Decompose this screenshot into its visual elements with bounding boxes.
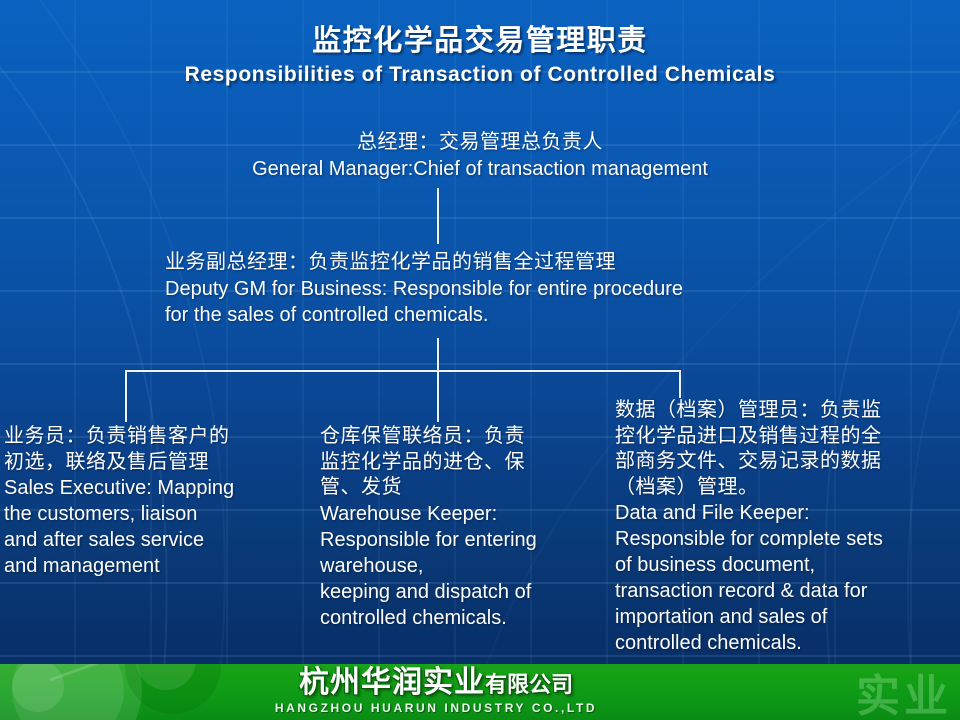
- warehouse-keeper-chinese-line-1: 仓库保管联络员：负责: [320, 424, 602, 450]
- data-file-keeper-english-line-1: Data and File Keeper:: [615, 500, 955, 526]
- sales-executive-english-line-2: the customers, liaison: [4, 501, 304, 527]
- warehouse-keeper-english-line-5: controlled chemicals.: [320, 605, 602, 631]
- deputy-gm-english-line-1: Deputy GM for Business: Responsible for …: [165, 276, 845, 302]
- footer-logo-band: 实业 杭州华润实业有限公司 HANGZHOU HUARUN INDUSTRY C…: [0, 664, 960, 720]
- warehouse-keeper-english-line-1: Warehouse Keeper:: [320, 501, 602, 527]
- connector-gm-to-deputy: [437, 188, 439, 244]
- data-file-keeper-chinese-line-2: 控化学品进口及销售过程的全: [615, 424, 955, 450]
- data-file-keeper-chinese-line-3: 部商务文件、交易记录的数据: [615, 449, 955, 475]
- deputy-gm-english-line-2: for the sales of controlled chemicals.: [165, 302, 845, 328]
- connector-drop-sales: [125, 370, 127, 422]
- sales-executive-english-line-3: and after sales service: [4, 527, 304, 553]
- data-file-keeper-english-line-5: importation and sales of: [615, 604, 955, 630]
- connector-drop-data-keeper: [679, 370, 681, 398]
- data-file-keeper-english-line-3: of business document,: [615, 552, 955, 578]
- general-manager-chinese: 总经理：交易管理总负责人: [0, 130, 960, 156]
- company-logo-chinese-suffix: 有限公司: [485, 672, 573, 697]
- org-node-sales-executive: 业务员：负责销售客户的 初选，联络及售后管理 Sales Executive: …: [4, 424, 304, 579]
- connector-deputy-stem: [437, 338, 439, 372]
- slide-canvas: 监控化学品交易管理职责 Responsibilities of Transact…: [0, 0, 960, 720]
- org-node-deputy-gm: 业务副总经理：负责监控化学品的销售全过程管理 Deputy GM for Bus…: [165, 250, 845, 328]
- sales-executive-english-line-1: Sales Executive: Mapping: [4, 475, 304, 501]
- connector-drop-warehouse: [437, 370, 439, 422]
- data-file-keeper-english-line-2: Responsible for complete sets: [615, 526, 955, 552]
- company-logo: 杭州华润实业有限公司 HANGZHOU HUARUN INDUSTRY CO.,…: [196, 668, 676, 714]
- deputy-gm-chinese: 业务副总经理：负责监控化学品的销售全过程管理: [165, 250, 845, 276]
- sales-executive-chinese-line-1: 业务员：负责销售客户的: [4, 424, 304, 450]
- company-logo-english: HANGZHOU HUARUN INDUSTRY CO.,LTD: [196, 702, 676, 714]
- data-file-keeper-chinese-line-4: （档案）管理。: [615, 475, 955, 501]
- org-node-data-file-keeper: 数据（档案）管理员：负责监 控化学品进口及销售过程的全 部商务文件、交易记录的数…: [615, 398, 955, 656]
- warehouse-keeper-english-line-4: keeping and dispatch of: [320, 579, 602, 605]
- slide-title-english: Responsibilities of Transaction of Contr…: [0, 62, 960, 87]
- sales-executive-chinese-line-2: 初选，联络及售后管理: [4, 450, 304, 476]
- sales-executive-english-line-4: and management: [4, 553, 304, 579]
- warehouse-keeper-chinese-line-3: 管、发货: [320, 475, 602, 501]
- connector-horizontal-bus: [125, 370, 681, 372]
- data-file-keeper-english-line-6: controlled chemicals.: [615, 630, 955, 656]
- warehouse-keeper-english-line-3: warehouse,: [320, 553, 602, 579]
- slide-title-chinese: 监控化学品交易管理职责: [0, 24, 960, 59]
- general-manager-english: General Manager:Chief of transaction man…: [0, 156, 960, 182]
- data-file-keeper-chinese-line-1: 数据（档案）管理员：负责监: [615, 398, 955, 424]
- slide-title: 监控化学品交易管理职责 Responsibilities of Transact…: [0, 24, 960, 87]
- data-file-keeper-english-line-4: transaction record & data for: [615, 578, 955, 604]
- warehouse-keeper-english-line-2: Responsible for entering: [320, 527, 602, 553]
- org-node-warehouse-keeper: 仓库保管联络员：负责 监控化学品的进仓、保 管、发货 Warehouse Kee…: [320, 424, 602, 631]
- org-node-general-manager: 总经理：交易管理总负责人 General Manager:Chief of tr…: [0, 130, 960, 182]
- company-logo-chinese-main: 杭州华润实业: [299, 666, 485, 699]
- company-logo-chinese: 杭州华润实业有限公司: [196, 668, 676, 698]
- warehouse-keeper-chinese-line-2: 监控化学品的进仓、保: [320, 450, 602, 476]
